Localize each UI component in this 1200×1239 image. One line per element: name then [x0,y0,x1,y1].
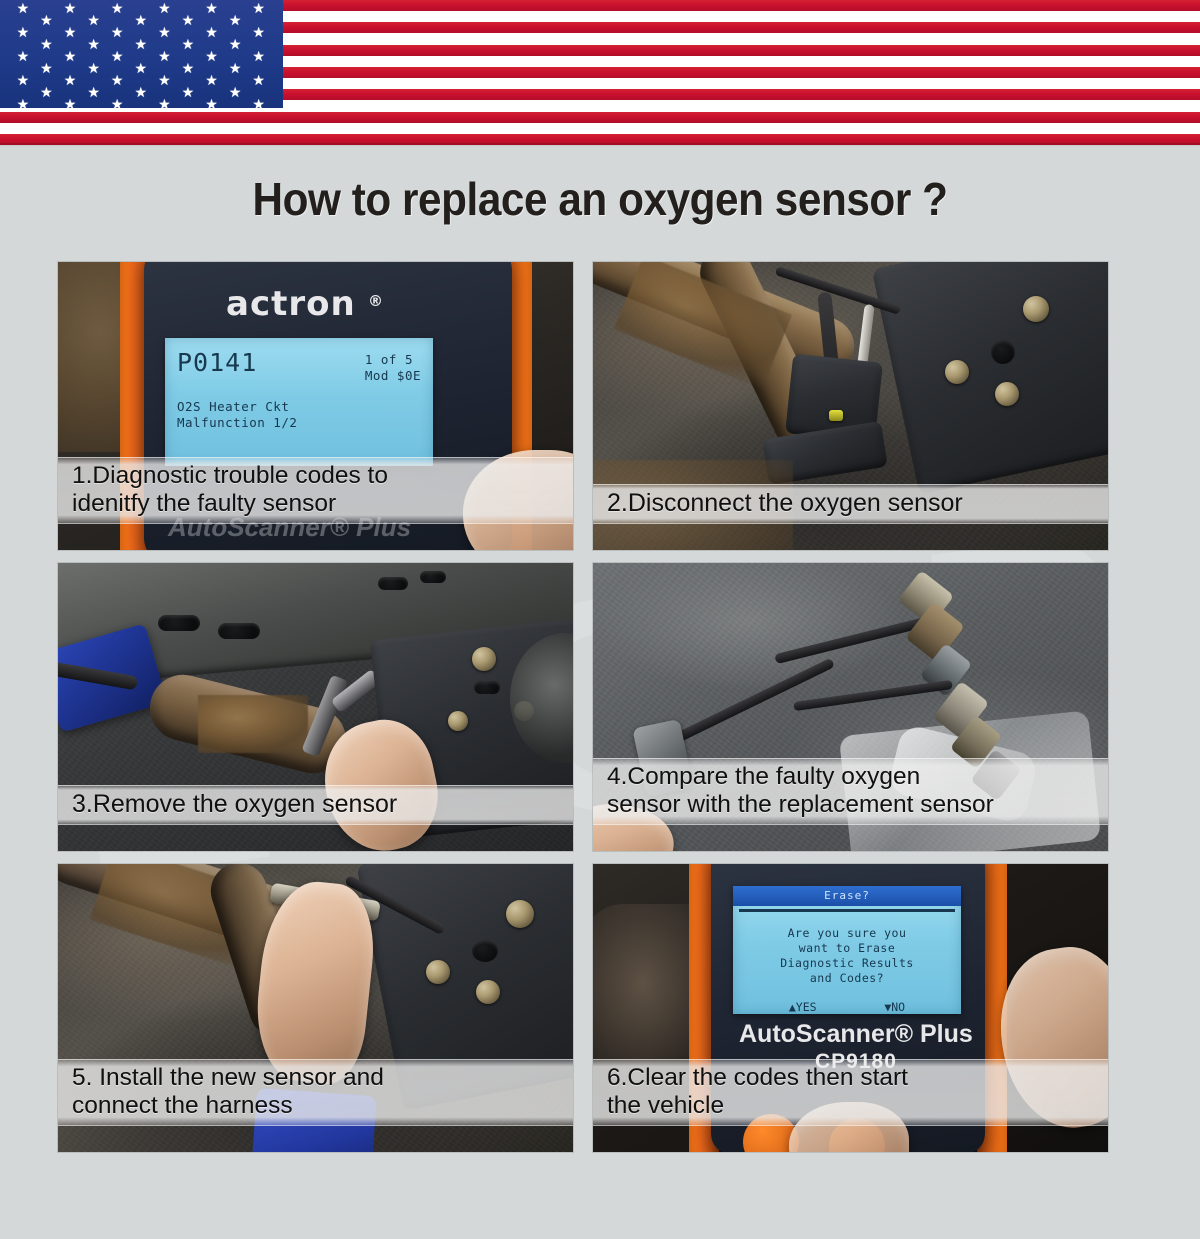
lcd-dialog-line-1: Are you sure you [741,926,953,941]
flag-star: ★ [252,73,265,87]
flag-star: ★ [87,13,100,27]
flag-star: ★ [182,13,195,27]
step-panel-4[interactable]: 4.Compare the faulty oxygen sensor with … [593,563,1108,851]
flag-star: ★ [252,49,265,63]
flag-star: ★ [111,1,124,15]
lcd-no-button[interactable]: ▼NO [884,1000,905,1014]
flag-star: ★ [158,49,171,63]
flag-stripe [0,112,1200,124]
usa-flag-banner: ★★★★★★★★★★★★★★★★★★★★★★★★★★★★★★★★★★★★★★★★… [0,0,1200,145]
step-6-caption-line-2: the vehicle [607,1092,1094,1119]
step-4-caption-line-2: sensor with the replacement sensor [607,791,1094,818]
flag-star: ★ [205,73,218,87]
flag-drop-shadow [0,143,1200,147]
step-2-caption-line-1: 2.Disconnect the oxygen sensor [607,489,1094,517]
flag-star: ★ [158,97,171,108]
step-3-caption-line-1: 3.Remove the oxygen sensor [72,790,559,818]
flag-star: ★ [229,61,242,75]
flag-star: ★ [252,97,265,108]
step-2-caption: 2.Disconnect the oxygen sensor [593,484,1108,524]
step-4-caption-line-1: 4.Compare the faulty oxygen [607,763,1094,790]
lcd-desc-line-1: O2S Heater Ckt [177,399,421,415]
flag-star: ★ [182,85,195,99]
flag-star: ★ [135,37,148,51]
flag-star: ★ [158,25,171,39]
flag-star: ★ [111,49,124,63]
flag-star: ★ [40,85,53,99]
flag-star: ★ [158,73,171,87]
step-6-caption-line-1: 6.Clear the codes then start [607,1064,1094,1091]
step-5-caption: 5. Install the new sensor and connect th… [58,1059,573,1126]
step-panel-1[interactable]: actron ® P0141 1 of 5 Mod $0E O2S Heater… [58,262,573,550]
step-panel-5[interactable]: 5. Install the new sensor and connect th… [58,864,573,1152]
flag-star: ★ [182,61,195,75]
step-1-caption: 1.Diagnostic trouble codes to idenitfy t… [58,457,573,524]
step-panel-6[interactable]: Erase? Are you sure you want to Erase Di… [593,864,1108,1152]
flag-star: ★ [135,85,148,99]
device-brand-mark: ® [368,292,384,310]
step-panel-3[interactable]: 3.Remove the oxygen sensor [58,563,573,851]
flag-star: ★ [205,1,218,15]
step-6-caption: 6.Clear the codes then start the vehicle [593,1059,1108,1126]
flag-star: ★ [17,49,30,63]
step-4-caption: 4.Compare the faulty oxygen sensor with … [593,758,1108,825]
step-5-caption-line-1: 5. Install the new sensor and [72,1064,559,1091]
device-sub-brand-6: AutoScanner® Plus [739,1020,973,1049]
flag-star: ★ [205,49,218,63]
lcd-code-index: 1 of 5 [365,352,421,368]
flag-star: ★ [158,1,171,15]
flag-star: ★ [252,25,265,39]
flag-star: ★ [135,61,148,75]
flag-star: ★ [229,85,242,99]
lcd-module: Mod $0E [365,368,421,384]
flag-star: ★ [64,1,77,15]
step-3-caption: 3.Remove the oxygen sensor [58,785,573,825]
flag-star: ★ [205,97,218,108]
step-1-caption-line-2: idenitfy the faulty sensor [72,490,559,517]
lcd-dialog-title: Erase? [733,886,961,906]
flag-star: ★ [64,73,77,87]
lcd-trouble-code: P0141 [177,348,257,377]
flag-star: ★ [17,73,30,87]
flag-star: ★ [64,49,77,63]
flag-star: ★ [87,85,100,99]
device-lcd-screen: P0141 1 of 5 Mod $0E O2S Heater Ckt Malf… [165,338,433,466]
flag-star: ★ [229,37,242,51]
flag-star: ★ [135,13,148,27]
page-title: How to replace an oxygen sensor ? [48,172,1152,226]
lcd-desc-line-2: Malfunction 1/2 [177,415,421,431]
flag-star: ★ [205,25,218,39]
flag-star: ★ [17,97,30,108]
flag-stripe [0,123,1200,135]
flag-star: ★ [17,25,30,39]
flag-star: ★ [40,13,53,27]
flag-star: ★ [111,73,124,87]
flag-star: ★ [40,61,53,75]
lcd-dialog-line-2: want to Erase [741,941,953,956]
step-5-caption-line-2: connect the harness [72,1092,559,1119]
flag-star: ★ [229,13,242,27]
flag-star: ★ [64,97,77,108]
flag-star: ★ [40,37,53,51]
steps-grid: actron ® P0141 1 of 5 Mod $0E O2S Heater… [58,262,1108,1152]
flag-star: ★ [64,25,77,39]
step-1-caption-line-1: 1.Diagnostic trouble codes to [72,462,559,489]
device-lcd-screen-6: Erase? Are you sure you want to Erase Di… [733,886,961,1014]
lcd-yes-button[interactable]: ▲YES [789,1000,817,1014]
step-panel-2[interactable]: 2.Disconnect the oxygen sensor [593,262,1108,550]
flag-star: ★ [87,37,100,51]
device-brand-label: actron [226,284,356,324]
flag-star: ★ [111,25,124,39]
flag-star: ★ [17,1,30,15]
flag-star: ★ [252,1,265,15]
flag-star: ★ [111,97,124,108]
lcd-dialog-line-3: Diagnostic Results [741,956,953,971]
flag-canton: ★★★★★★★★★★★★★★★★★★★★★★★★★★★★★★★★★★★★★★★★… [0,0,283,108]
flag-star: ★ [87,61,100,75]
lcd-dialog-line-4: and Codes? [741,971,953,986]
flag-star: ★ [182,37,195,51]
